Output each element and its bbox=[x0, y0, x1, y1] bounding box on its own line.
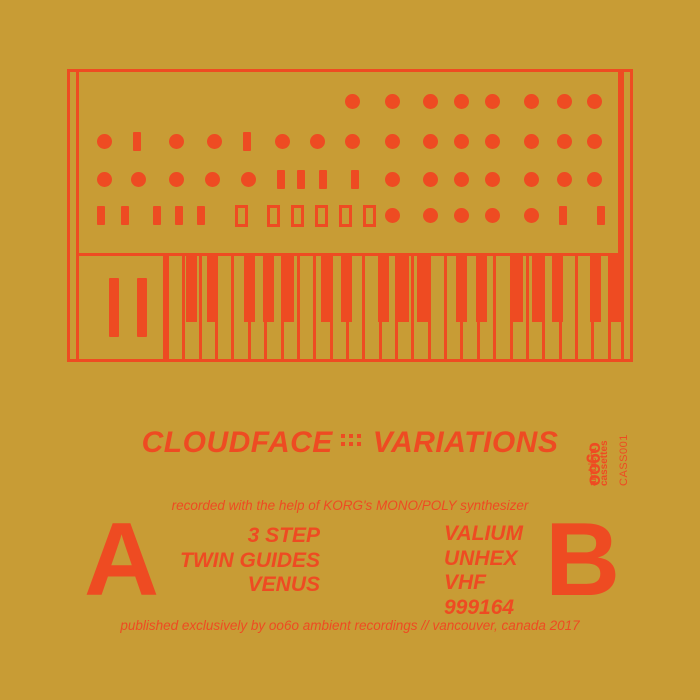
synth-control-dot bbox=[205, 172, 220, 187]
synth-control-grid bbox=[79, 72, 621, 256]
black-key bbox=[512, 256, 523, 322]
synth-control-dot bbox=[454, 134, 469, 149]
synth-control-slider bbox=[133, 132, 141, 151]
synth-control-dot bbox=[423, 208, 438, 223]
synth-control-dot bbox=[454, 208, 469, 223]
synth-control-dot bbox=[485, 208, 500, 223]
white-key bbox=[428, 256, 444, 359]
publisher-line: published exclusively by oo6o ambient re… bbox=[0, 618, 700, 633]
white-key bbox=[166, 256, 182, 359]
synth-control-slider bbox=[197, 206, 205, 225]
synth-control-dot bbox=[241, 172, 256, 187]
synth-control-dot bbox=[485, 172, 500, 187]
synth-control-dot bbox=[423, 172, 438, 187]
triple-colon-dots-icon bbox=[341, 434, 365, 450]
synth-control-slider bbox=[319, 170, 327, 189]
black-key bbox=[590, 256, 601, 322]
synth-control-hollow bbox=[235, 205, 248, 227]
black-key bbox=[207, 256, 218, 322]
black-key bbox=[378, 256, 389, 322]
synth-control-dot bbox=[310, 134, 325, 149]
synth-control-dot bbox=[385, 94, 400, 109]
black-key bbox=[532, 256, 543, 322]
black-key bbox=[244, 256, 255, 322]
synth-control-dot bbox=[524, 94, 539, 109]
white-key bbox=[575, 256, 591, 359]
black-key bbox=[610, 256, 621, 322]
synth-control-dot bbox=[169, 134, 184, 149]
synth-control-slider bbox=[559, 206, 567, 225]
white-key bbox=[362, 256, 378, 359]
synth-control-dot bbox=[485, 134, 500, 149]
synth-control-hollow bbox=[267, 205, 280, 227]
side-b-letter: B bbox=[545, 512, 620, 608]
synth-control-dot bbox=[587, 94, 602, 109]
synth-control-dot bbox=[587, 172, 602, 187]
white-key bbox=[493, 256, 509, 359]
synth-control-dot bbox=[131, 172, 146, 187]
black-key bbox=[263, 256, 274, 322]
album-title: VARIATIONS bbox=[373, 426, 559, 459]
pitch-wheel bbox=[109, 278, 119, 337]
synth-control-dot bbox=[454, 94, 469, 109]
synth-control-dot bbox=[97, 172, 112, 187]
side-a-letter: A bbox=[84, 512, 159, 608]
black-key bbox=[552, 256, 563, 322]
synth-control-dot bbox=[557, 94, 572, 109]
tracklist-section: A 3 STEPTWIN GUIDESVENUS VALIUMUNHEXVHF9… bbox=[0, 512, 700, 612]
synth-control-slider bbox=[351, 170, 359, 189]
pitch-mod-wheel-area bbox=[79, 256, 166, 359]
synth-control-slider bbox=[277, 170, 285, 189]
synth-control-dot bbox=[169, 172, 184, 187]
black-key bbox=[186, 256, 197, 322]
synth-control-slider bbox=[121, 206, 129, 225]
synth-control-slider bbox=[297, 170, 305, 189]
synth-control-dot bbox=[275, 134, 290, 149]
synth-control-dot bbox=[207, 134, 222, 149]
synth-control-dot bbox=[423, 94, 438, 109]
black-key bbox=[341, 256, 352, 322]
synth-control-dot bbox=[345, 94, 360, 109]
track-a-1: 3 STEP bbox=[170, 524, 320, 549]
synth-control-dot bbox=[524, 134, 539, 149]
track-a-3: VENUS bbox=[170, 573, 320, 598]
side-a-tracklist: 3 STEPTWIN GUIDESVENUS bbox=[170, 524, 320, 598]
synth-control-dot bbox=[345, 134, 360, 149]
synth-control-hollow bbox=[315, 205, 328, 227]
synth-control-dot bbox=[385, 172, 400, 187]
synth-control-hollow bbox=[339, 205, 352, 227]
label-sub-ambient: ambient bbox=[588, 448, 599, 486]
cassette-cover-artwork: CLOUDFACEVARIATIONS oo6o ambient cassett… bbox=[0, 0, 700, 700]
black-key bbox=[283, 256, 294, 322]
catalog-number: CASS001 bbox=[618, 434, 630, 486]
synth-control-dot bbox=[557, 134, 572, 149]
black-key bbox=[476, 256, 487, 322]
synth-keys bbox=[166, 256, 624, 359]
synth-control-dot bbox=[97, 134, 112, 149]
black-key bbox=[456, 256, 467, 322]
synth-control-dot bbox=[385, 208, 400, 223]
white-key bbox=[297, 256, 313, 359]
synth-keybed bbox=[79, 256, 624, 359]
synth-control-dot bbox=[485, 94, 500, 109]
synthesizer-illustration bbox=[67, 69, 633, 362]
synth-control-slider bbox=[153, 206, 161, 225]
synth-control-slider bbox=[597, 206, 605, 225]
synth-control-dot bbox=[524, 208, 539, 223]
label-sub-cassettes: cassettes bbox=[599, 440, 610, 486]
synth-control-slider bbox=[175, 206, 183, 225]
synth-control-dot bbox=[423, 134, 438, 149]
synth-control-slider bbox=[243, 132, 251, 151]
black-key bbox=[417, 256, 428, 322]
black-key bbox=[398, 256, 409, 322]
synth-control-hollow bbox=[363, 205, 376, 227]
track-a-2: TWIN GUIDES bbox=[170, 549, 320, 574]
label-vertical-marks: oo6o ambient cassettes CASS001 bbox=[566, 410, 626, 490]
synth-control-dot bbox=[454, 172, 469, 187]
synth-control-dot bbox=[557, 172, 572, 187]
synth-control-slider bbox=[97, 206, 105, 225]
black-key bbox=[321, 256, 332, 322]
artist-name: CLOUDFACE bbox=[142, 426, 333, 459]
mod-wheel bbox=[137, 278, 147, 337]
synth-control-hollow bbox=[291, 205, 304, 227]
synth-control-dot bbox=[385, 134, 400, 149]
synth-control-dot bbox=[587, 134, 602, 149]
synth-control-dot bbox=[524, 172, 539, 187]
